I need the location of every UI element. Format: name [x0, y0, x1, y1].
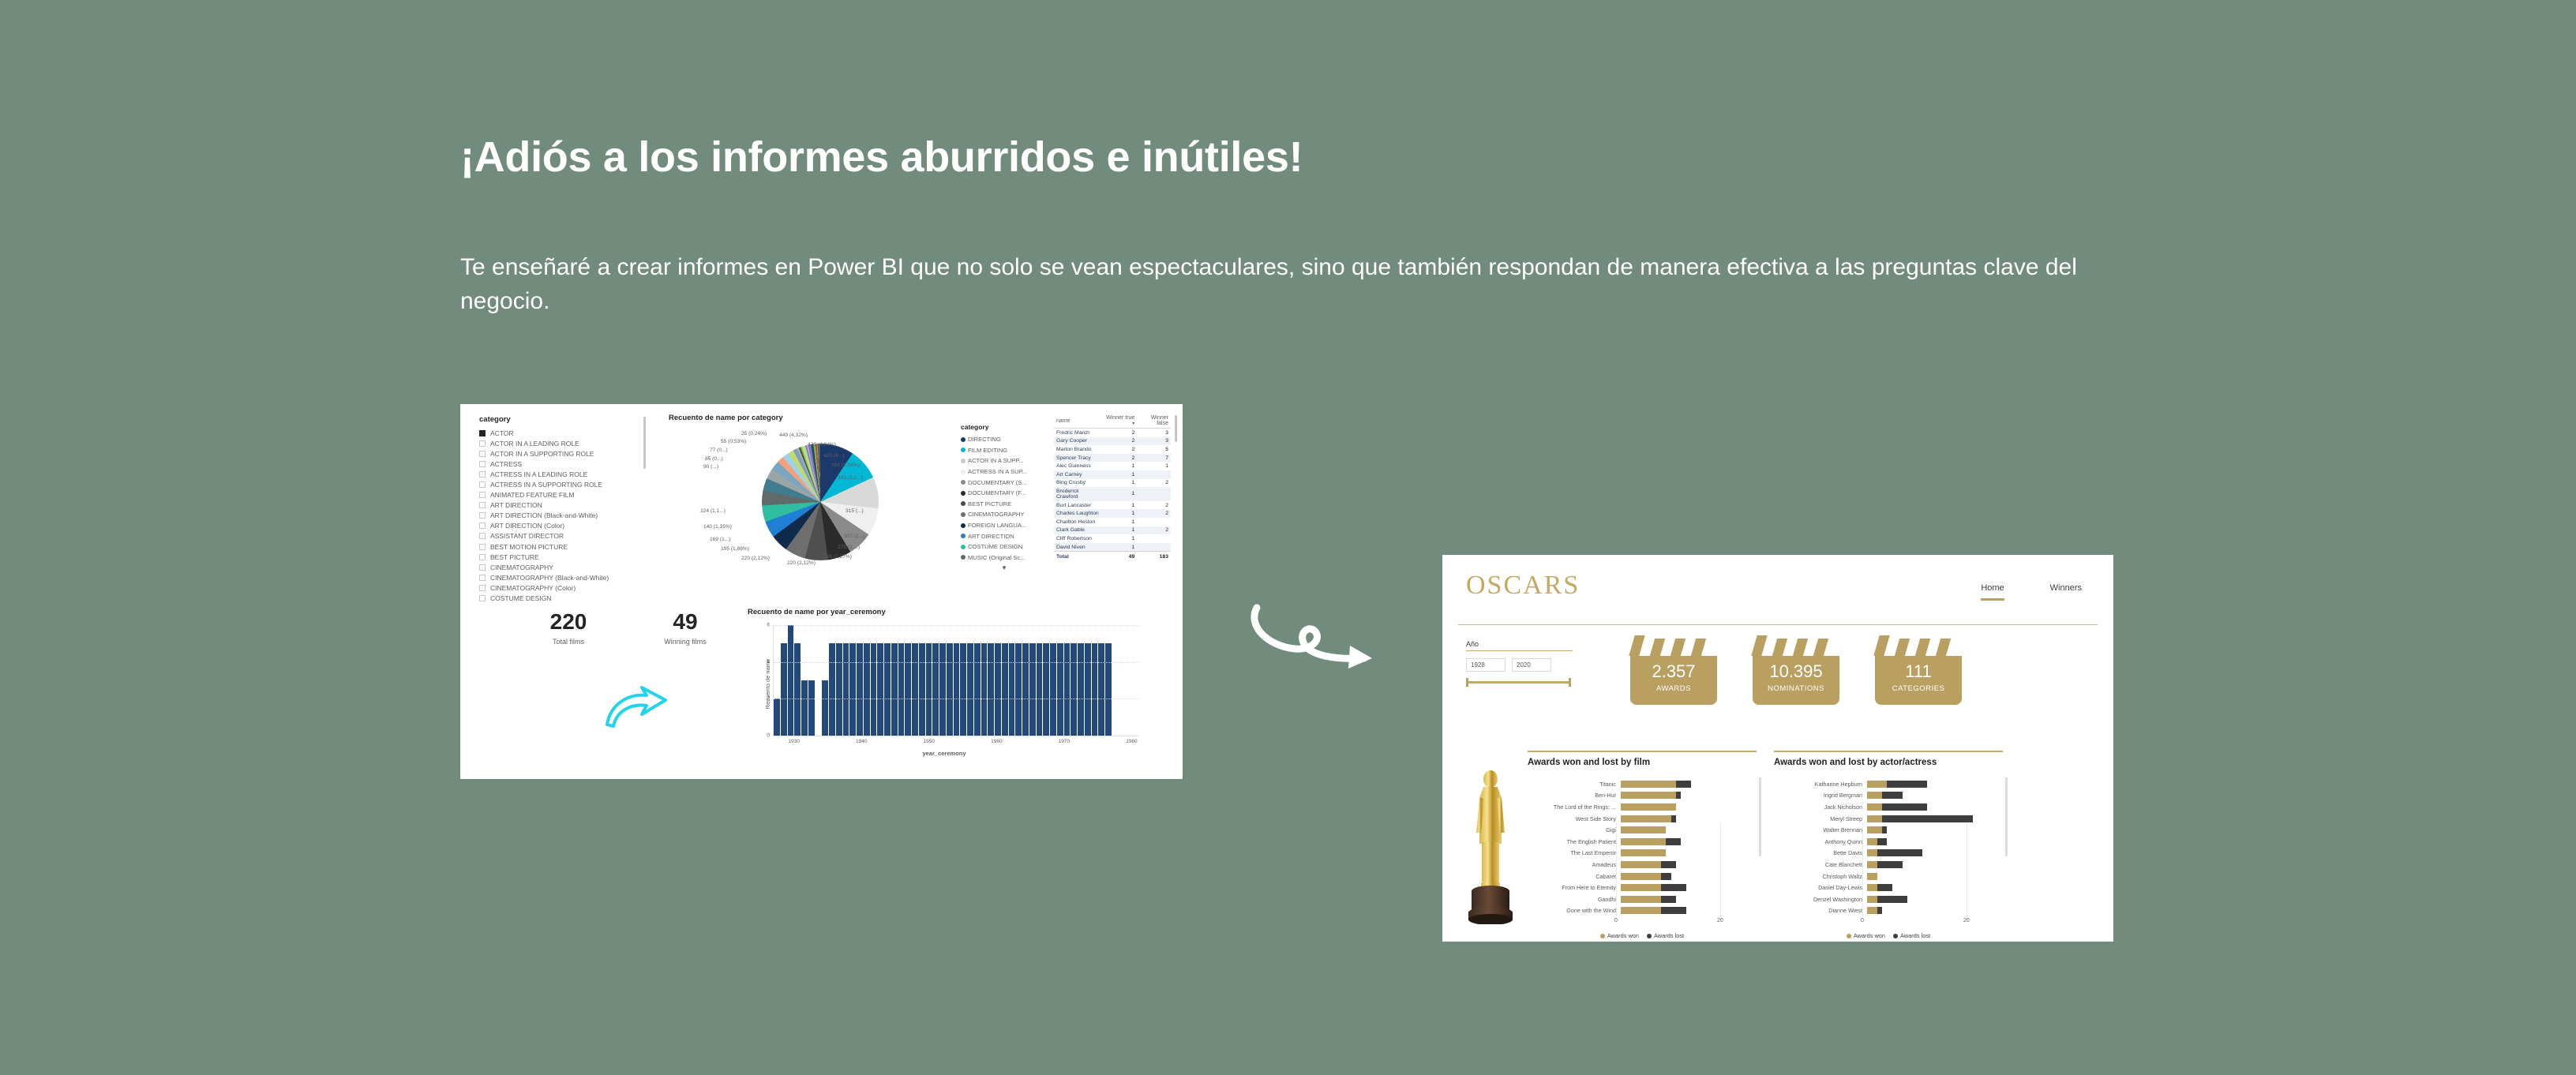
legend-item[interactable]: MUSIC (Original Sc...: [961, 552, 1048, 564]
bar-row[interactable]: Meryl Streep: [1774, 813, 2003, 825]
bar-category-label: The Last Emperor: [1528, 849, 1621, 856]
slicer-item[interactable]: BEST MOTION PICTURE: [479, 541, 641, 552]
bar[interactable]: [898, 643, 905, 736]
bar-track: [1621, 849, 1757, 856]
slicer-item[interactable]: ACTOR: [479, 428, 641, 438]
bar-segment-lost[interactable]: [1882, 815, 1973, 822]
nav-item-home[interactable]: Home: [1981, 583, 2004, 601]
table-row[interactable]: Art Carney1: [1054, 470, 1171, 479]
table-row[interactable]: Fredric March23: [1054, 429, 1171, 437]
bar-segment-lost[interactable]: [1676, 781, 1691, 788]
clapperboard-icon: [1630, 634, 1717, 656]
bar-track: [1621, 803, 1757, 811]
legend-label: FILM EDITING: [968, 447, 1007, 454]
page-subtitle: Te enseñaré a crear informes en Power BI…: [460, 251, 2126, 318]
bar[interactable]: [781, 643, 787, 736]
bar-row[interactable]: Anthony Quinn: [1774, 836, 2003, 848]
bar[interactable]: [939, 643, 946, 736]
bar[interactable]: [884, 643, 891, 736]
bar[interactable]: [877, 643, 883, 736]
cell-winner-true: 1: [1102, 543, 1138, 552]
table-row[interactable]: David Niven1: [1054, 543, 1171, 552]
checkbox[interactable]: [479, 440, 486, 447]
bar-segment-won[interactable]: [1621, 838, 1666, 845]
kpi-label: Total films: [525, 638, 612, 646]
checkbox[interactable]: [479, 585, 486, 591]
slicer-item-label: ACTOR: [490, 429, 514, 437]
checkbox[interactable]: [479, 471, 486, 478]
bar-row[interactable]: Gigi: [1528, 824, 1757, 836]
table-row[interactable]: Marlon Brando25: [1054, 445, 1171, 454]
bar[interactable]: [857, 643, 863, 736]
bar-track: [1867, 907, 2003, 914]
bar-track: [1867, 781, 2003, 788]
slicer-item-label: CINEMATOGRAPHY (Black-and-White): [490, 574, 609, 582]
bar[interactable]: [808, 680, 815, 736]
slicer-item-label: ACTRESS IN A LEADING ROLE: [490, 470, 587, 478]
cell-name: Charlton Heston: [1054, 518, 1102, 526]
gridline: [1616, 823, 1617, 916]
checkbox[interactable]: [479, 492, 486, 498]
bar-row[interactable]: Dianne Wiest: [1774, 905, 2003, 917]
bar-track: [1867, 873, 2003, 880]
legend-item[interactable]: ART DIRECTION: [961, 530, 1048, 541]
legend-item[interactable]: Awards won: [1847, 932, 1885, 939]
legend-color-dot: [1647, 934, 1652, 938]
bar[interactable]: [1057, 643, 1063, 736]
bar[interactable]: [967, 643, 973, 736]
legend-item[interactable]: COSTUME DESIGN: [961, 541, 1048, 552]
bar[interactable]: [1092, 643, 1098, 736]
bar[interactable]: [926, 643, 932, 736]
kpi-total-films: 220 Total films: [525, 611, 612, 646]
bar-row[interactable]: Cabaret: [1528, 871, 1757, 882]
legend-label: CINEMATOGRAPHY: [968, 511, 1024, 518]
y-axis-tick: 4: [767, 659, 770, 665]
cyan-arrow-annotation-icon: [602, 680, 670, 729]
slicer-item-label: COSTUME DESIGN: [490, 594, 551, 602]
bar-row[interactable]: Christoph Waltz: [1774, 871, 2003, 882]
cell-winner-false: 3: [1137, 437, 1171, 446]
bar-track: [1621, 826, 1757, 833]
slicer-item[interactable]: ART DIRECTION: [479, 500, 641, 511]
pie-data-label: 90 (...): [703, 464, 718, 470]
year-slicer[interactable]: Año 1928 2020: [1466, 640, 1577, 684]
actor-chart-title: Awards won and lost by actor/actress: [1774, 758, 2003, 767]
checkbox[interactable]: [479, 595, 486, 601]
table-row[interactable]: Charlton Heston1: [1054, 518, 1171, 526]
cell-name: Clark Gable: [1054, 526, 1102, 535]
bar[interactable]: [864, 643, 870, 736]
bar-segment-lost[interactable]: [1676, 792, 1681, 799]
legend-item[interactable]: CINEMATOGRAPHY: [961, 509, 1048, 520]
bar-segment-won[interactable]: [1621, 803, 1676, 811]
checkbox[interactable]: [479, 544, 486, 550]
bar[interactable]: [1043, 643, 1049, 736]
bar-segment-lost[interactable]: [1661, 861, 1676, 868]
bar[interactable]: [891, 643, 898, 736]
bar-row[interactable]: The Last Emperor: [1528, 848, 1757, 860]
checkbox[interactable]: [479, 502, 486, 508]
bar-row[interactable]: Cate Blanchett: [1774, 859, 2003, 871]
cell-winner-true: 1: [1102, 462, 1138, 470]
checkbox[interactable]: [479, 451, 486, 457]
bar-segment-lost[interactable]: [1877, 849, 1922, 856]
bar[interactable]: [829, 643, 835, 736]
bar-segment-lost[interactable]: [1661, 907, 1686, 914]
bar-row[interactable]: Bette Davis: [1774, 848, 2003, 860]
bar[interactable]: [822, 680, 828, 736]
year-from-input[interactable]: 1928: [1466, 658, 1505, 672]
checkbox[interactable]: [479, 430, 486, 436]
slicer-item[interactable]: ACTOR IN A LEADING ROLE: [479, 438, 641, 448]
slicer-item[interactable]: ANIMATED FEATURE FILM: [479, 490, 641, 500]
slicer-item[interactable]: CINEMATOGRAPHY (Color): [479, 582, 641, 593]
legend-item[interactable]: FILM EDITING: [961, 445, 1048, 456]
bar-segment-won[interactable]: [1867, 849, 1877, 856]
oscars-nav[interactable]: HomeWinners: [1981, 583, 2082, 601]
slider-handle-left[interactable]: [1466, 678, 1468, 687]
bar-segment-lost[interactable]: [1877, 861, 1903, 868]
checkbox[interactable]: [479, 481, 486, 488]
bar-segment-lost[interactable]: [1877, 896, 1907, 903]
table-row[interactable]: Cliff Robertson1: [1054, 534, 1171, 543]
legend-item[interactable]: DOCUMENTARY (S...: [961, 477, 1048, 488]
slicer-item[interactable]: ACTRESS IN A LEADING ROLE: [479, 469, 641, 479]
bar-track: [1867, 838, 2003, 845]
bar[interactable]: [1078, 643, 1084, 736]
bar[interactable]: [1050, 643, 1056, 736]
bar[interactable]: [1009, 643, 1015, 736]
kpi-caption: AWARDS: [1630, 684, 1717, 693]
bar-segment-lost[interactable]: [1661, 873, 1671, 880]
legend-label: ACTRESS IN A SUP...: [968, 468, 1027, 475]
checkbox[interactable]: [479, 564, 486, 571]
legend-item[interactable]: DIRECTING: [961, 434, 1048, 445]
table-row[interactable]: Charles Laughton12: [1054, 509, 1171, 518]
bar-category-label: Daniel Day-Lewis: [1774, 884, 1867, 891]
legend-item[interactable]: FOREIGN LANGUA...: [961, 520, 1048, 531]
bar-segment-lost[interactable]: [1887, 781, 1927, 788]
bar-track: [1867, 815, 2003, 822]
slicer-item-label: ASSISTANT DIRECTOR: [490, 532, 564, 540]
pie-data-label: 77 (0...): [710, 448, 728, 453]
cell-winner-false: 2: [1137, 526, 1171, 535]
checkbox[interactable]: [479, 554, 486, 560]
slicer-item[interactable]: BEST PICTURE: [479, 552, 641, 562]
table-header-cell[interactable]: Winner true ▾: [1102, 414, 1138, 429]
bar-segment-won[interactable]: [1867, 781, 1887, 788]
pie-chart-visual: Recuento de name por category 449 (4,32%…: [669, 414, 953, 587]
slicer-item[interactable]: ART DIRECTION (Color): [479, 521, 641, 531]
slicer-item[interactable]: COSTUME DESIGN: [479, 594, 641, 604]
bar-segment-won[interactable]: [1867, 896, 1877, 903]
slider-handle-right[interactable]: [1569, 678, 1571, 687]
bar[interactable]: [947, 643, 953, 736]
year-to-input[interactable]: 2020: [1512, 658, 1551, 672]
bar-segment-won[interactable]: [1621, 861, 1661, 868]
legend-color-dot: [961, 501, 966, 506]
bar-track: [1867, 849, 2003, 856]
slicer-scrollbar[interactable]: [643, 417, 646, 469]
bar[interactable]: [836, 643, 842, 736]
cell-name: Art Carney: [1054, 470, 1102, 479]
clapperboard-icon: [1753, 634, 1839, 656]
x-axis-tick: 1970: [1059, 739, 1070, 744]
slicer-item[interactable]: CINEMATOGRAPHY (Black-and-White): [479, 572, 641, 582]
pie-chart-title: Recuento de name por category: [669, 414, 783, 422]
bar-chart-plot[interactable]: 0246193019401950196019701980: [773, 625, 1138, 736]
bar-category-label: Walter Brennan: [1774, 826, 1867, 833]
bar-row[interactable]: From Here to Eternity: [1528, 882, 1757, 893]
legend-item[interactable]: BEST PICTURE: [961, 499, 1048, 510]
bar[interactable]: [849, 643, 856, 736]
bar-segment-won[interactable]: [1867, 838, 1877, 845]
bar-segment-lost[interactable]: [1882, 826, 1887, 833]
bar-row[interactable]: The English Patient: [1528, 836, 1757, 848]
legend-item[interactable]: ACTRESS IN A SUP...: [961, 466, 1048, 478]
kpi-card-categories: 111CATEGORIES: [1875, 634, 1962, 705]
x-axis-title: year_ceremony: [727, 750, 1161, 757]
bar-category-label: Titanic: [1528, 781, 1621, 788]
pie-data-label: 85 (0...): [705, 456, 723, 462]
nav-item-winners[interactable]: Winners: [2050, 583, 2082, 601]
legend-item[interactable]: ACTOR IN A SUPP...: [961, 455, 1048, 466]
bar-segment-won[interactable]: [1867, 884, 1877, 891]
cell-winner-false: 2: [1137, 479, 1171, 488]
bar-segment-lost[interactable]: [1882, 792, 1902, 799]
bar-row[interactable]: Denzel Washington: [1774, 893, 2003, 905]
bar-segment-won[interactable]: [1621, 815, 1671, 822]
bar-row[interactable]: Ben-Hur: [1528, 790, 1757, 802]
slicer-item[interactable]: ACTRESS: [479, 459, 641, 469]
cell-winner-true: 1: [1102, 526, 1138, 535]
cell-winner-true: 1: [1102, 470, 1138, 479]
bar-category-label: Dianne Wiest: [1774, 907, 1867, 914]
chevron-down-icon[interactable]: ▼: [961, 564, 1048, 571]
legend-label: DIRECTING: [968, 436, 1001, 443]
actor-bars[interactable]: Katharine HepburnIngrid BergmanJack Nich…: [1774, 778, 2003, 916]
bar-segment-lost[interactable]: [1882, 803, 1927, 811]
bar-segment-won[interactable]: [1867, 861, 1877, 868]
bar-segment-won[interactable]: [1867, 907, 1877, 914]
bar[interactable]: [981, 643, 988, 736]
bar-row[interactable]: Katharine Hepburn: [1774, 778, 2003, 790]
bar-segment-lost[interactable]: [1877, 838, 1888, 845]
bar[interactable]: [954, 643, 960, 736]
legend-item[interactable]: Awards lost: [1647, 932, 1684, 939]
checkbox[interactable]: [479, 533, 486, 539]
x-axis-tick: 0: [1614, 918, 1618, 923]
bar[interactable]: [1085, 643, 1091, 736]
gridline: [1720, 823, 1721, 916]
bar-row[interactable]: Titanic: [1528, 778, 1757, 790]
bar-segment-lost[interactable]: [1877, 907, 1882, 914]
bar-segment-won[interactable]: [1867, 873, 1877, 880]
pie-data-label: 449 (4,32%): [779, 433, 808, 438]
legend-label: FOREIGN LANGUA...: [968, 522, 1026, 529]
checkbox[interactable]: [479, 512, 486, 519]
film-x-axis: 020: [1616, 916, 1757, 929]
bar[interactable]: [774, 699, 780, 736]
film-bars[interactable]: TitanicBen-HurThe Lord of the Rings: ...…: [1528, 778, 1757, 916]
bar[interactable]: [1071, 643, 1077, 736]
bar-segment-won[interactable]: [1867, 815, 1882, 822]
bar-row[interactable]: Gandhi: [1528, 893, 1757, 905]
bar-segment-won[interactable]: [1621, 873, 1661, 880]
table-scrollbar[interactable]: [1175, 415, 1177, 442]
table-row[interactable]: Gary Cooper23: [1054, 437, 1171, 446]
pie-data-label: 169 (1...): [710, 537, 730, 542]
year-slider-track[interactable]: [1466, 681, 1571, 684]
checkbox[interactable]: [479, 575, 486, 581]
legend-label: ART DIRECTION: [968, 533, 1014, 540]
checkbox[interactable]: [479, 461, 486, 467]
x-axis-tick: 1930: [788, 739, 799, 744]
table-row[interactable]: Clark Gable12: [1054, 526, 1171, 535]
pie-data-label: 236 (2,27%): [823, 554, 852, 560]
bar-row[interactable]: Gone with the Wind: [1528, 905, 1757, 917]
bar-category-label: Katharine Hepburn: [1774, 781, 1867, 788]
bar[interactable]: [871, 643, 877, 736]
slicer-item[interactable]: ART DIRECTION (Black-and-White): [479, 511, 641, 521]
bar-row[interactable]: West Side Story: [1528, 813, 1757, 825]
bar[interactable]: [1098, 643, 1104, 736]
pie-legend: category DIRECTINGFILM EDITINGACTOR IN A…: [961, 423, 1048, 571]
bar-segment-lost[interactable]: [1671, 815, 1676, 822]
bar-row[interactable]: Amadeus: [1528, 859, 1757, 871]
bar-segment-won[interactable]: [1621, 896, 1661, 903]
bar[interactable]: [1105, 643, 1112, 736]
bar-track: [1621, 815, 1757, 822]
bar-track: [1867, 826, 2003, 833]
actor-chart-scrollbar[interactable]: [2005, 777, 2008, 856]
table-row[interactable]: Burt Lancaster12: [1054, 501, 1171, 510]
bar-segment-won[interactable]: [1621, 781, 1676, 788]
legend-label: Awards won: [1607, 932, 1639, 939]
cell-name: Gary Cooper: [1054, 437, 1102, 446]
bar[interactable]: [1064, 643, 1071, 736]
total-winner-false: 183: [1137, 552, 1171, 561]
bar-segment-won[interactable]: [1867, 803, 1882, 811]
table-row[interactable]: Broderick Crawford1: [1054, 487, 1171, 501]
legend-header: category: [961, 423, 1048, 431]
legend-label: DOCUMENTARY (S...: [968, 479, 1027, 486]
bar-segment-lost[interactable]: [1666, 838, 1681, 845]
bar[interactable]: [1015, 643, 1022, 736]
bar-category-label: Denzel Washington: [1774, 896, 1867, 903]
pie-data-label: 307 (2...): [844, 534, 864, 539]
bar[interactable]: [1022, 643, 1029, 736]
actor-chart-panel: Awards won and lost by actor/actress Kat…: [1774, 751, 2003, 939]
bar-row[interactable]: Ingrid Bergman: [1774, 790, 2003, 802]
legend-item[interactable]: Awards lost: [1893, 932, 1930, 939]
winners-table[interactable]: nameWinner true ▾Winner false Fredric Ma…: [1054, 414, 1171, 561]
bar[interactable]: [995, 643, 1001, 736]
bar[interactable]: [919, 643, 925, 736]
bar-row[interactable]: Daniel Day-Lewis: [1774, 882, 2003, 893]
bar-category-label: Jack Nicholson: [1774, 803, 1867, 811]
slicer-item-label: ACTRESS: [490, 460, 522, 468]
pie-data-label: 275 (2,...): [838, 545, 860, 550]
bar-row[interactable]: The Lord of the Rings: ...: [1528, 801, 1757, 813]
table-row[interactable]: Bing Crosby12: [1054, 479, 1171, 488]
bar-segment-lost[interactable]: [1661, 896, 1676, 903]
cell-winner-true: 1: [1102, 501, 1138, 510]
cell-name: Spencer Tracy: [1054, 454, 1102, 463]
slicer-item-label: ACTOR IN A LEADING ROLE: [490, 440, 579, 448]
pie-data-label: 420 (4,04%): [808, 442, 836, 448]
table-header-cell[interactable]: Winner false: [1137, 414, 1171, 429]
bar-category-label: The Lord of the Rings: ...: [1528, 803, 1621, 811]
bar-segment-won[interactable]: [1621, 884, 1661, 891]
bar[interactable]: [988, 643, 994, 736]
bar-row[interactable]: Jack Nicholson: [1774, 801, 2003, 813]
slicer-item[interactable]: CINEMATOGRAPHY: [479, 562, 641, 572]
pie-chart[interactable]: [762, 444, 879, 560]
slicer-item[interactable]: ASSISTANT DIRECTOR: [479, 531, 641, 541]
legend-item[interactable]: DOCUMENTARY (F...: [961, 488, 1048, 499]
gridline: [1862, 823, 1863, 916]
bar-segment-won[interactable]: [1621, 849, 1666, 856]
bar[interactable]: [974, 643, 981, 736]
category-slicer[interactable]: category ACTORACTOR IN A LEADING ROLEACT…: [479, 415, 641, 604]
bar-segment-lost[interactable]: [1877, 884, 1892, 891]
pie-data-label: 124 (1,1...): [700, 508, 726, 514]
bar[interactable]: [912, 643, 918, 736]
bar[interactable]: [1029, 643, 1036, 736]
cell-winner-true: 2: [1102, 429, 1138, 437]
bar[interactable]: [960, 643, 966, 736]
table-row[interactable]: Alec Guinness11: [1054, 462, 1171, 470]
bar[interactable]: [843, 643, 849, 736]
bar-segment-lost[interactable]: [1661, 884, 1686, 891]
bar[interactable]: [1002, 643, 1008, 736]
table-row[interactable]: Spencer Tracy27: [1054, 454, 1171, 463]
pie-data-label: 420 (4...): [823, 453, 844, 459]
cell-name: Broderick Crawford: [1054, 487, 1102, 501]
bar-track: [1621, 838, 1757, 845]
legend-item[interactable]: Awards won: [1600, 932, 1639, 939]
bar-segment-won[interactable]: [1621, 826, 1666, 833]
bar[interactable]: [1037, 643, 1043, 736]
checkbox[interactable]: [479, 523, 486, 529]
film-chart-scrollbar[interactable]: [1759, 777, 1761, 856]
panel-rule: [1528, 751, 1757, 752]
cell-name: David Niven: [1054, 543, 1102, 552]
bar-category-label: Gandhi: [1528, 896, 1621, 903]
legend-label: DOCUMENTARY (F...: [968, 489, 1026, 496]
bar-segment-won[interactable]: [1867, 792, 1882, 799]
cell-winner-false: 3: [1137, 429, 1171, 437]
bar-segment-won[interactable]: [1621, 792, 1676, 799]
bar-chart-title: Recuento de name por year_ceremony: [748, 608, 886, 616]
cell-winner-true: 1: [1102, 534, 1138, 543]
bar[interactable]: [794, 643, 801, 736]
bar[interactable]: [905, 643, 911, 736]
bar[interactable]: [801, 680, 808, 736]
bar[interactable]: [932, 643, 939, 736]
bar-segment-won[interactable]: [1867, 826, 1882, 833]
cell-name: Alec Guinness: [1054, 462, 1102, 470]
slicer-item[interactable]: ACTRESS IN A SUPPORTING ROLE: [479, 479, 641, 489]
table-header-cell[interactable]: name: [1054, 414, 1102, 429]
bar[interactable]: [788, 625, 794, 736]
table-total-row: Total49183: [1054, 552, 1171, 561]
bar-row[interactable]: Walter Brennan: [1774, 824, 2003, 836]
bar-segment-won[interactable]: [1621, 907, 1661, 914]
slicer-item[interactable]: ACTOR IN A SUPPORTING ROLE: [479, 448, 641, 459]
